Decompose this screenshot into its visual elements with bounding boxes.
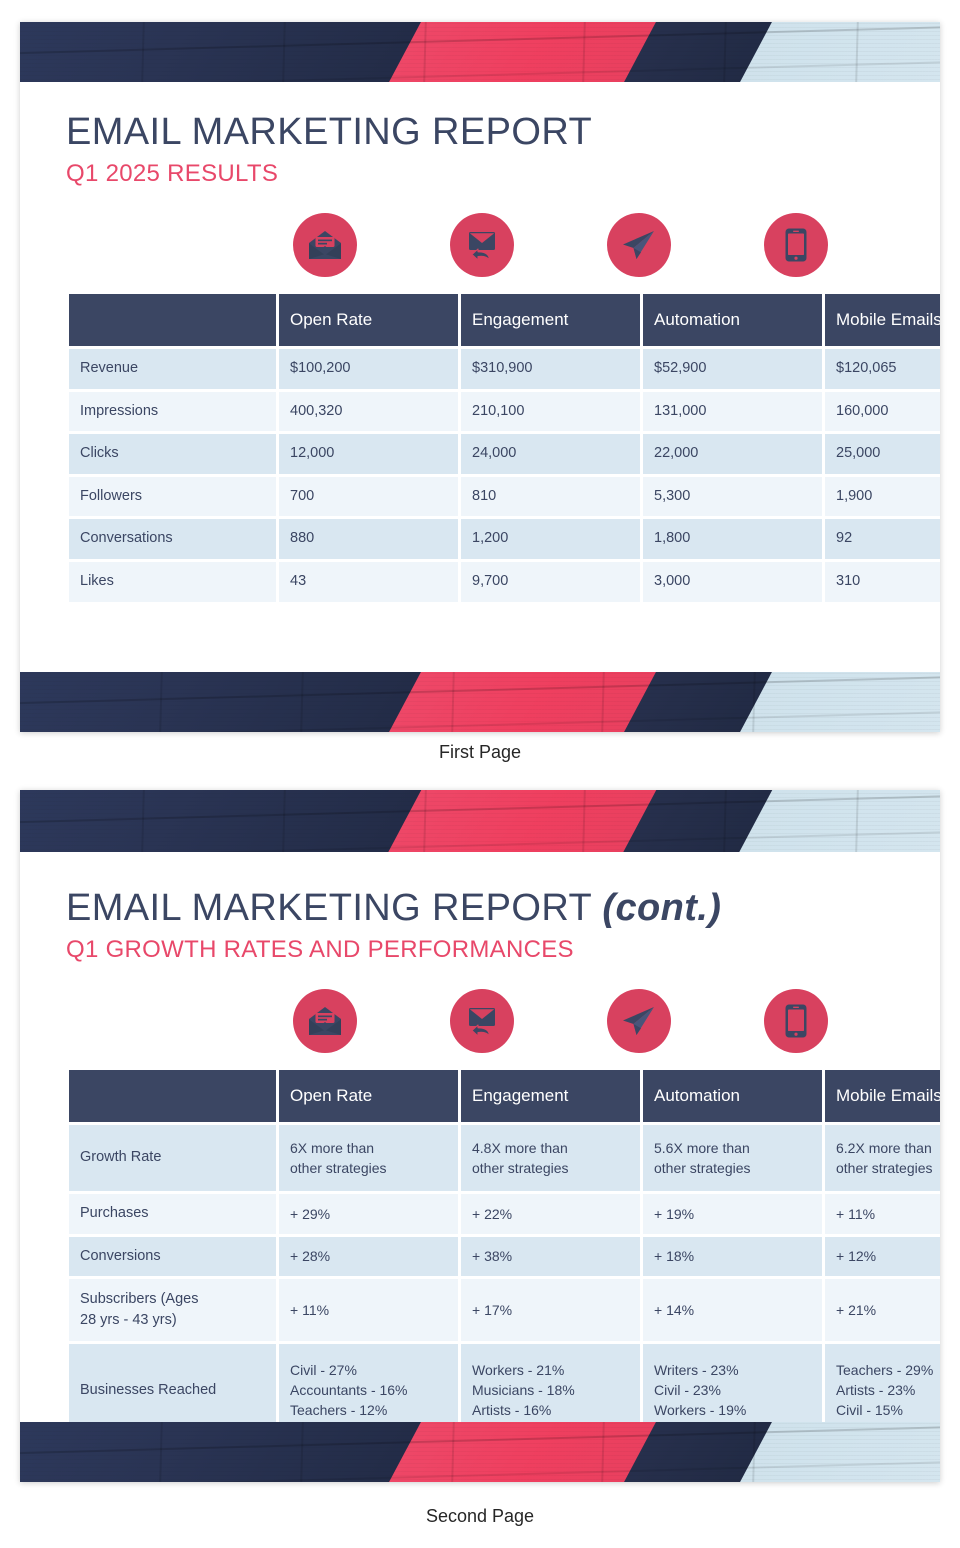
page-title-suffix: (cont.) [602,887,721,929]
cell-value: 1,800 [643,519,822,559]
cell-value: 6X more than other strategies [279,1125,458,1191]
column-header-mobile-emails: Mobile Emails [825,294,940,346]
table-header-row: Open Rate Engagement Automation Mobile E… [69,294,940,346]
cell-value: 5,300 [643,477,822,517]
cell-value: 4.8X more than other strategies [461,1125,640,1191]
page-first-body: EMAIL MARKETING REPORT Q1 2025 RESULTS [20,82,940,605]
row-label: Subscribers (Ages 28 yrs - 43 yrs) [69,1279,276,1341]
icon-row-page1 [66,213,894,277]
brick-texture [20,1422,940,1482]
cell-value: + 29% [279,1194,458,1234]
cell-value: + 11% [279,1279,458,1341]
icon-badge [764,989,828,1053]
cell-value: 9,700 [461,562,640,602]
banner-stripes [20,790,940,852]
page-title-main: EMAIL MARKETING REPORT [66,111,592,153]
cell-value: 810 [461,477,640,517]
icon-badge [293,989,357,1053]
table-header: Open Rate Engagement Automation Mobile E… [69,294,940,346]
cell-value: 5.6X more than other strategies [643,1125,822,1191]
table-header: Open Rate Engagement Automation Mobile E… [69,1070,940,1122]
cell-value: 310 [825,562,940,602]
results-table: Open Rate Engagement Automation Mobile E… [66,291,940,604]
paper-plane-icon [621,229,657,261]
table-corner-header [69,294,276,346]
cell-value: 1,200 [461,519,640,559]
column-header-engagement: Engagement [461,1070,640,1122]
table-row: Revenue $100,200 $310,900 $52,900 $120,0… [69,349,940,389]
cell-value: 700 [279,477,458,517]
cell-value: 6.2X more than other strategies [825,1125,940,1191]
icon-badge [607,989,671,1053]
paper-plane-icon [621,1005,657,1037]
cell-value: + 21% [825,1279,940,1341]
cell-value: + 22% [461,1194,640,1234]
row-label: Conversations [69,519,276,559]
growth-table: Open Rate Engagement Automation Mobile E… [66,1067,940,1439]
banner-top-page1 [20,22,940,82]
table-row: Impressions 400,320 210,100 131,000 160,… [69,392,940,432]
cell-value: 1,900 [825,477,940,517]
page-title: EMAIL MARKETING REPORT (cont.) [66,888,894,930]
icon-badge [607,213,671,277]
cell-value: 3,000 [643,562,822,602]
brick-texture [20,672,940,732]
envelope-reply-icon [465,1005,499,1037]
banner-top-page2 [20,790,940,852]
table-row: Followers 700 810 5,300 1,900 [69,477,940,517]
page-title: EMAIL MARKETING REPORT [66,112,894,154]
caption-first-page: First Page [0,742,960,763]
table-row: Subscribers (Ages 28 yrs - 43 yrs) + 11%… [69,1279,940,1341]
banner-stripes [20,1422,940,1482]
row-label: Conversions [69,1237,276,1277]
cell-value: $100,200 [279,349,458,389]
cell-value: $310,900 [461,349,640,389]
table-corner-header [69,1070,276,1122]
page-second-body: EMAIL MARKETING REPORT (cont.) Q1 GROWTH… [20,852,940,1439]
column-header-open-rate: Open Rate [279,1070,458,1122]
icon-cell-open-rate [246,213,403,277]
icon-cell-engagement [403,989,560,1053]
cell-value: 25,000 [825,434,940,474]
cell-value: $52,900 [643,349,822,389]
page-subtitle: Q1 2025 RESULTS [66,161,894,187]
page-title-main: EMAIL MARKETING REPORT [66,887,591,929]
icon-badge [293,213,357,277]
banner-bottom-page2 [20,1422,940,1482]
cell-value: 24,000 [461,434,640,474]
table-row: Growth Rate 6X more than other strategie… [69,1125,940,1191]
page-first: EMAIL MARKETING REPORT Q1 2025 RESULTS [20,22,940,732]
cell-value: + 18% [643,1237,822,1277]
cell-value: 12,000 [279,434,458,474]
cell-value: + 17% [461,1279,640,1341]
table-row: Conversations 880 1,200 1,800 92 [69,519,940,559]
cell-value: 22,000 [643,434,822,474]
row-label: Clicks [69,434,276,474]
banner-stripes [20,22,940,82]
row-label: Growth Rate [69,1125,276,1191]
column-header-mobile-emails: Mobile Emails [825,1070,940,1122]
open-envelope-icon [308,230,342,260]
cell-value: 400,320 [279,392,458,432]
icon-cell-mobile-emails [717,989,874,1053]
table-row: Likes 43 9,700 3,000 310 [69,562,940,602]
cell-value: + 38% [461,1237,640,1277]
icon-cell-mobile-emails [717,213,874,277]
cell-value: + 28% [279,1237,458,1277]
cell-value: $120,065 [825,349,940,389]
row-label: Followers [69,477,276,517]
cell-value: 210,100 [461,392,640,432]
brick-texture [20,22,940,82]
table-row: Purchases + 29% + 22% + 19% + 11% [69,1194,940,1234]
row-label: Likes [69,562,276,602]
icon-cell-engagement [403,213,560,277]
table-body: Revenue $100,200 $310,900 $52,900 $120,0… [69,349,940,601]
column-header-engagement: Engagement [461,294,640,346]
table-row: Conversions + 28% + 38% + 18% + 12% [69,1237,940,1277]
mobile-phone-icon [785,1004,807,1038]
cell-value: 160,000 [825,392,940,432]
table-row: Clicks 12,000 24,000 22,000 25,000 [69,434,940,474]
column-header-automation: Automation [643,294,822,346]
row-label: Purchases [69,1194,276,1234]
cell-value: 43 [279,562,458,602]
open-envelope-icon [308,1006,342,1036]
row-label: Revenue [69,349,276,389]
icon-row-page2 [66,989,894,1053]
cell-value: 880 [279,519,458,559]
page-subtitle: Q1 GROWTH RATES AND PERFORMANCES [66,937,894,963]
column-header-automation: Automation [643,1070,822,1122]
cell-value: + 14% [643,1279,822,1341]
icon-badge [450,989,514,1053]
icon-cell-automation [560,989,717,1053]
page-second: EMAIL MARKETING REPORT (cont.) Q1 GROWTH… [20,790,940,1482]
document-canvas: EMAIL MARKETING REPORT Q1 2025 RESULTS [0,0,960,1548]
banner-bottom-page1 [20,672,940,732]
mobile-phone-icon [785,228,807,262]
row-label: Impressions [69,392,276,432]
table-body: Growth Rate 6X more than other strategie… [69,1125,940,1436]
envelope-reply-icon [465,229,499,261]
icon-badge [450,213,514,277]
caption-second-page: Second Page [0,1506,960,1527]
cell-value: 131,000 [643,392,822,432]
cell-value: 92 [825,519,940,559]
icon-cell-automation [560,213,717,277]
column-header-open-rate: Open Rate [279,294,458,346]
icon-cell-open-rate [246,989,403,1053]
banner-stripes [20,672,940,732]
cell-value: + 12% [825,1237,940,1277]
table-header-row: Open Rate Engagement Automation Mobile E… [69,1070,940,1122]
icon-badge [764,213,828,277]
cell-value: + 19% [643,1194,822,1234]
brick-texture [20,790,940,852]
cell-value: + 11% [825,1194,940,1234]
